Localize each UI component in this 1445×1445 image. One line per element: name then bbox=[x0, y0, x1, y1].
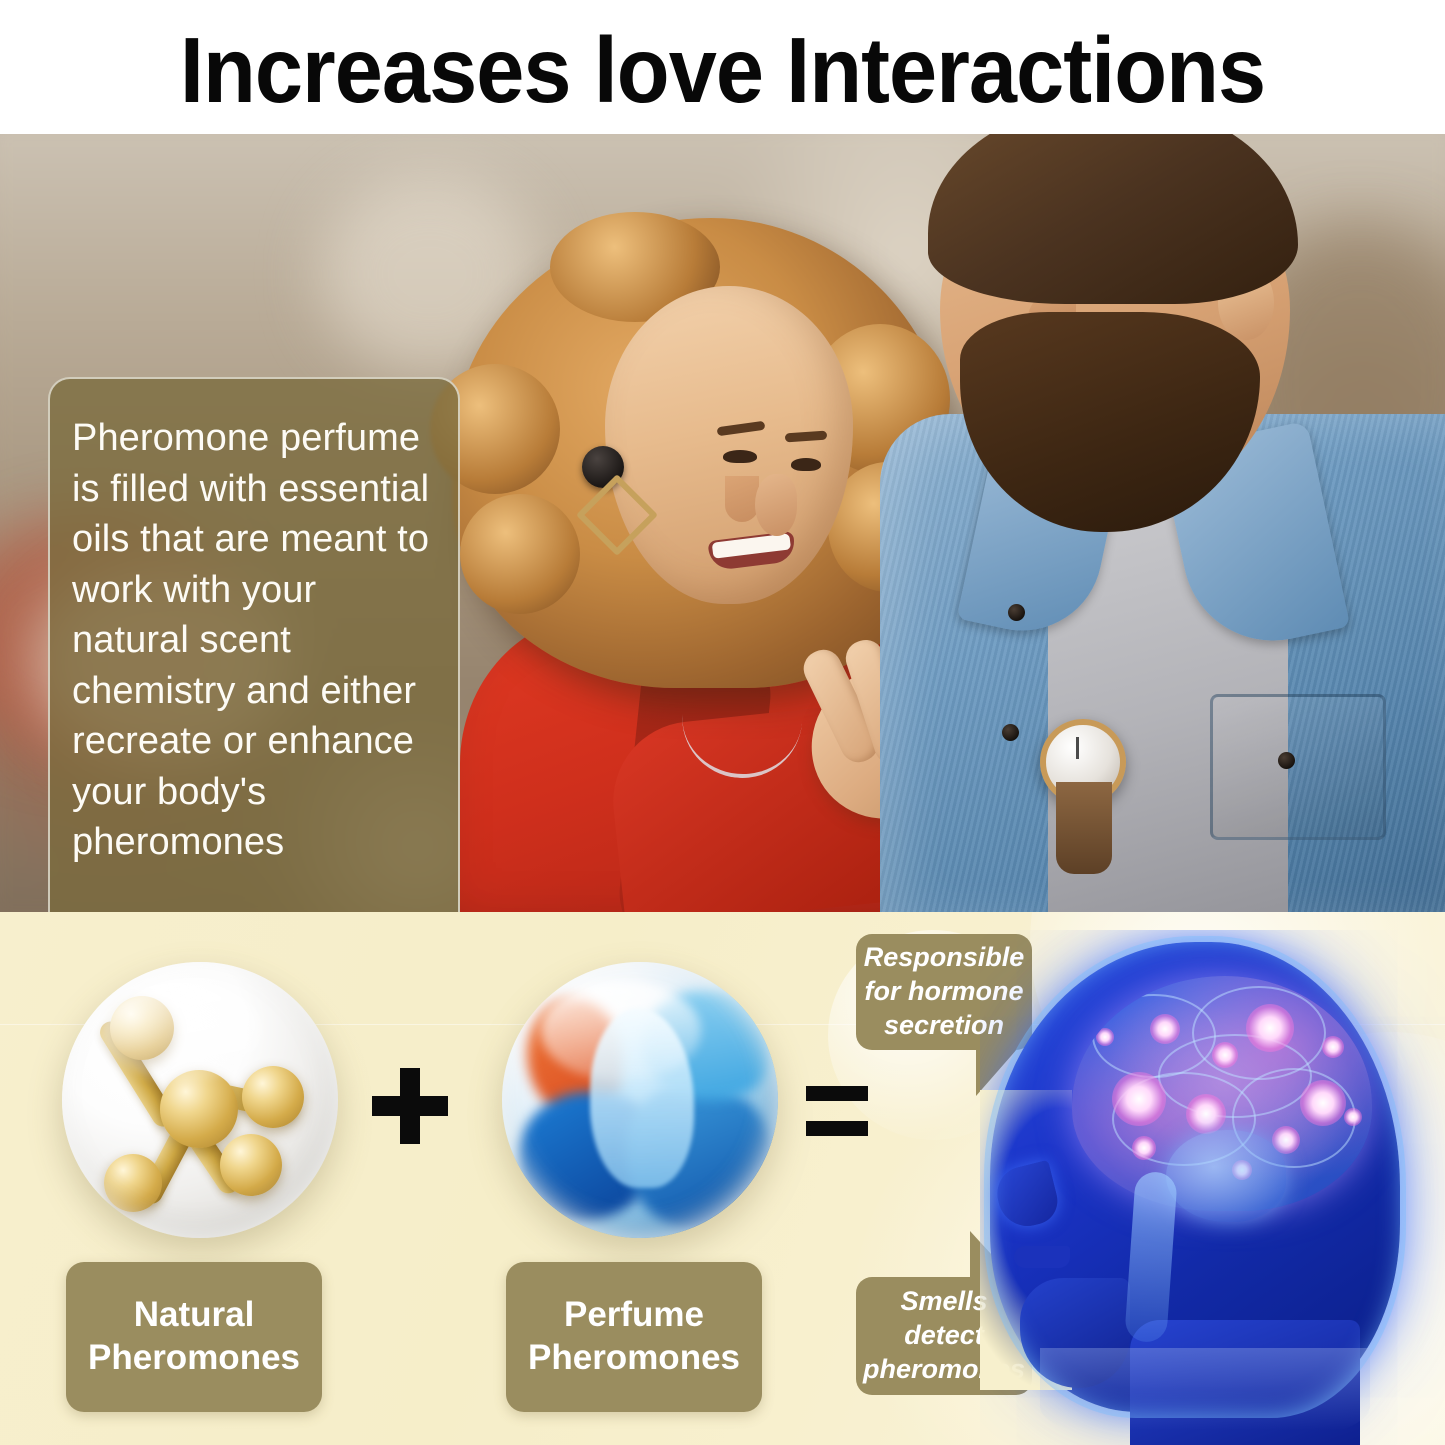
woman-eye bbox=[791, 458, 821, 471]
brain-spark bbox=[1150, 1014, 1180, 1044]
head-lips bbox=[1014, 1246, 1070, 1268]
plus-bar-vertical bbox=[400, 1068, 420, 1144]
brain-spark bbox=[1212, 1042, 1238, 1068]
woman-eye bbox=[723, 450, 757, 463]
plus-operator: + bbox=[372, 1068, 448, 1144]
man-hair bbox=[928, 134, 1298, 304]
label-natural-line1: Natural bbox=[134, 1295, 255, 1334]
label-card-perfume-pheromones: Perfume Pheromones bbox=[506, 1262, 762, 1412]
brain-spark bbox=[1344, 1108, 1362, 1126]
natural-pheromone-bubble bbox=[62, 962, 338, 1238]
man-watch-strap bbox=[1056, 782, 1112, 874]
woman-eyebrow bbox=[785, 431, 828, 443]
brain-spark bbox=[1322, 1036, 1344, 1058]
label-perfume-line2: Pheromones bbox=[528, 1338, 740, 1377]
infographic-poster: Increases love Interactions bbox=[0, 0, 1445, 1445]
brain-spark bbox=[1300, 1080, 1346, 1126]
label-natural-text: Natural Pheromones bbox=[88, 1294, 300, 1379]
brain-spark bbox=[1132, 1136, 1156, 1160]
woman-mouth bbox=[707, 531, 796, 571]
man-figure bbox=[880, 134, 1445, 912]
equals-bar-bottom bbox=[806, 1121, 868, 1136]
woman-teeth bbox=[712, 533, 791, 558]
brain-spark bbox=[1112, 1072, 1166, 1126]
description-card: Pheromone perfume is filled with essenti… bbox=[48, 377, 460, 912]
brain-spark bbox=[1096, 1028, 1114, 1046]
perfume-pheromone-bubble bbox=[502, 962, 778, 1238]
man-shirt-button bbox=[1002, 724, 1019, 741]
woman-ear bbox=[755, 474, 797, 536]
label-perfume-line1: Perfume bbox=[564, 1295, 704, 1334]
formula-diagram-panel: + = Natural Pheromones Perfume Pheromone… bbox=[0, 912, 1445, 1445]
label-perfume-text: Perfume Pheromones bbox=[528, 1294, 740, 1379]
lifestyle-photo-panel: Pheromone perfume is filled with essenti… bbox=[0, 134, 1445, 912]
header-band: Increases love Interactions bbox=[0, 0, 1445, 134]
brain-spark bbox=[1186, 1094, 1226, 1134]
cerebellum bbox=[1166, 1130, 1286, 1222]
page-title: Increases love Interactions bbox=[180, 24, 1265, 117]
bubble-rim bbox=[62, 962, 338, 1238]
brain-spark bbox=[1246, 1004, 1294, 1052]
description-text: Pheromone perfume is filled with essenti… bbox=[72, 413, 432, 868]
man-shirt-pocket bbox=[1210, 694, 1386, 840]
equals-bar-top bbox=[806, 1086, 868, 1101]
woman-nose bbox=[725, 476, 759, 522]
woman-eyebrow bbox=[717, 421, 766, 437]
man-shirt-button bbox=[1278, 752, 1295, 769]
man-shirt-button bbox=[1008, 604, 1025, 621]
head-reflection bbox=[1040, 1348, 1370, 1445]
label-natural-line2: Pheromones bbox=[88, 1338, 300, 1377]
woman-hair-curl bbox=[460, 494, 580, 614]
label-card-natural-pheromones: Natural Pheromones bbox=[66, 1262, 322, 1412]
equals-operator: = bbox=[806, 1086, 868, 1136]
bubble-rim bbox=[502, 962, 778, 1238]
